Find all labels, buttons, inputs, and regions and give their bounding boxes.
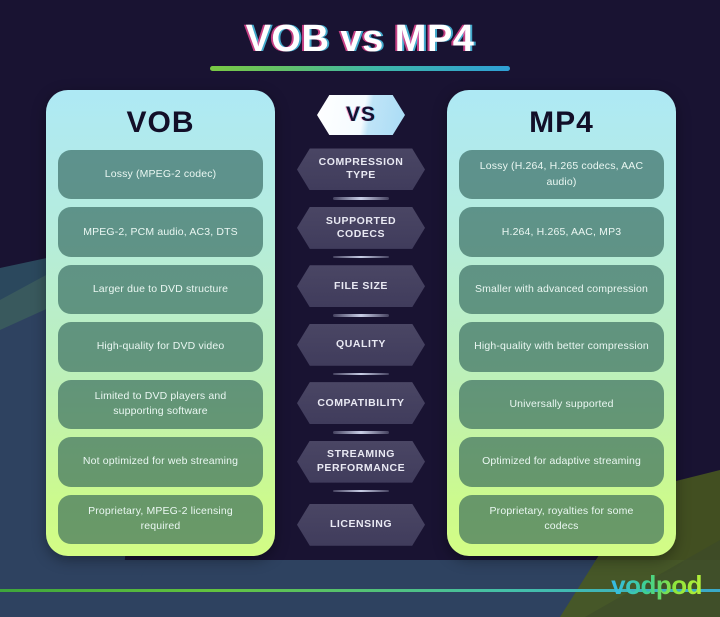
page-title-wrap: VOB vs MP4: [0, 18, 720, 61]
category-column: VS COMPRESSION TYPE SUPPORTED CODECS FIL…: [296, 90, 426, 556]
category-compatibility: COMPATIBILITY: [297, 382, 425, 424]
category-divider: [333, 431, 389, 434]
category-group: STREAMING PERFORMANCE: [296, 437, 426, 495]
vs-badge: VS: [317, 95, 405, 135]
mp4-cell-quality: High-quality with better compression: [459, 322, 664, 371]
category-quality: QUALITY: [297, 324, 425, 366]
category-licensing: LICENSING: [297, 504, 425, 546]
page-title: VOB vs MP4: [246, 18, 475, 61]
mp4-cell-list: Lossy (H.264, H.265 codecs, AAC audio) H…: [459, 150, 664, 544]
category-divider: [333, 490, 389, 493]
category-divider: [333, 314, 389, 317]
category-compression-type: COMPRESSION TYPE: [297, 148, 425, 190]
category-supported-codecs: SUPPORTED CODECS: [297, 207, 425, 249]
mp4-cell-file-size: Smaller with advanced compression: [459, 265, 664, 314]
category-group: COMPRESSION TYPE: [296, 145, 426, 203]
category-list: COMPRESSION TYPE SUPPORTED CODECS FILE S…: [296, 135, 426, 556]
column-title-mp4: MP4: [459, 108, 664, 138]
mp4-cell-compatibility: Universally supported: [459, 380, 664, 429]
comparison-column-mp4: MP4 Lossy (H.264, H.265 codecs, AAC audi…: [447, 90, 676, 556]
category-group: SUPPORTED CODECS: [296, 203, 426, 261]
title-underline: [210, 66, 510, 71]
category-group: COMPATIBILITY: [296, 379, 426, 437]
category-divider: [333, 197, 389, 200]
category-file-size: FILE SIZE: [297, 265, 425, 307]
comparison-column-vob: VOB Lossy (MPEG-2 codec) MPEG-2, PCM aud…: [46, 90, 275, 556]
vob-cell-quality: High-quality for DVD video: [58, 322, 263, 371]
category-divider: [333, 256, 389, 259]
column-title-vob: VOB: [58, 108, 263, 138]
category-group: FILE SIZE: [296, 262, 426, 320]
mp4-cell-supported-codecs: H.264, H.265, AAC, MP3: [459, 207, 664, 256]
mp4-cell-licensing: Proprietary, royalties for some codecs: [459, 495, 664, 544]
vob-cell-list: Lossy (MPEG-2 codec) MPEG-2, PCM audio, …: [58, 150, 263, 544]
mp4-cell-streaming-performance: Optimized for adaptive streaming: [459, 437, 664, 486]
category-streaming-performance: STREAMING PERFORMANCE: [297, 441, 425, 483]
mp4-cell-compression-type: Lossy (H.264, H.265 codecs, AAC audio): [459, 150, 664, 199]
category-group: QUALITY: [296, 320, 426, 378]
category-divider: [333, 373, 389, 376]
vob-cell-streaming-performance: Not optimized for web streaming: [58, 437, 263, 486]
category-group: LICENSING: [296, 496, 426, 554]
infographic-canvas: VOB vs MP4 VOB Lossy (MPEG-2 codec) MPEG…: [0, 0, 720, 617]
vob-cell-supported-codecs: MPEG-2, PCM audio, AC3, DTS: [58, 207, 263, 256]
vob-cell-compression-type: Lossy (MPEG-2 codec): [58, 150, 263, 199]
vob-cell-licensing: Proprietary, MPEG-2 licensing required: [58, 495, 263, 544]
vodpod-logo: vodpod: [611, 570, 702, 601]
vob-cell-compatibility: Limited to DVD players and supporting so…: [58, 380, 263, 429]
vob-cell-file-size: Larger due to DVD structure: [58, 265, 263, 314]
